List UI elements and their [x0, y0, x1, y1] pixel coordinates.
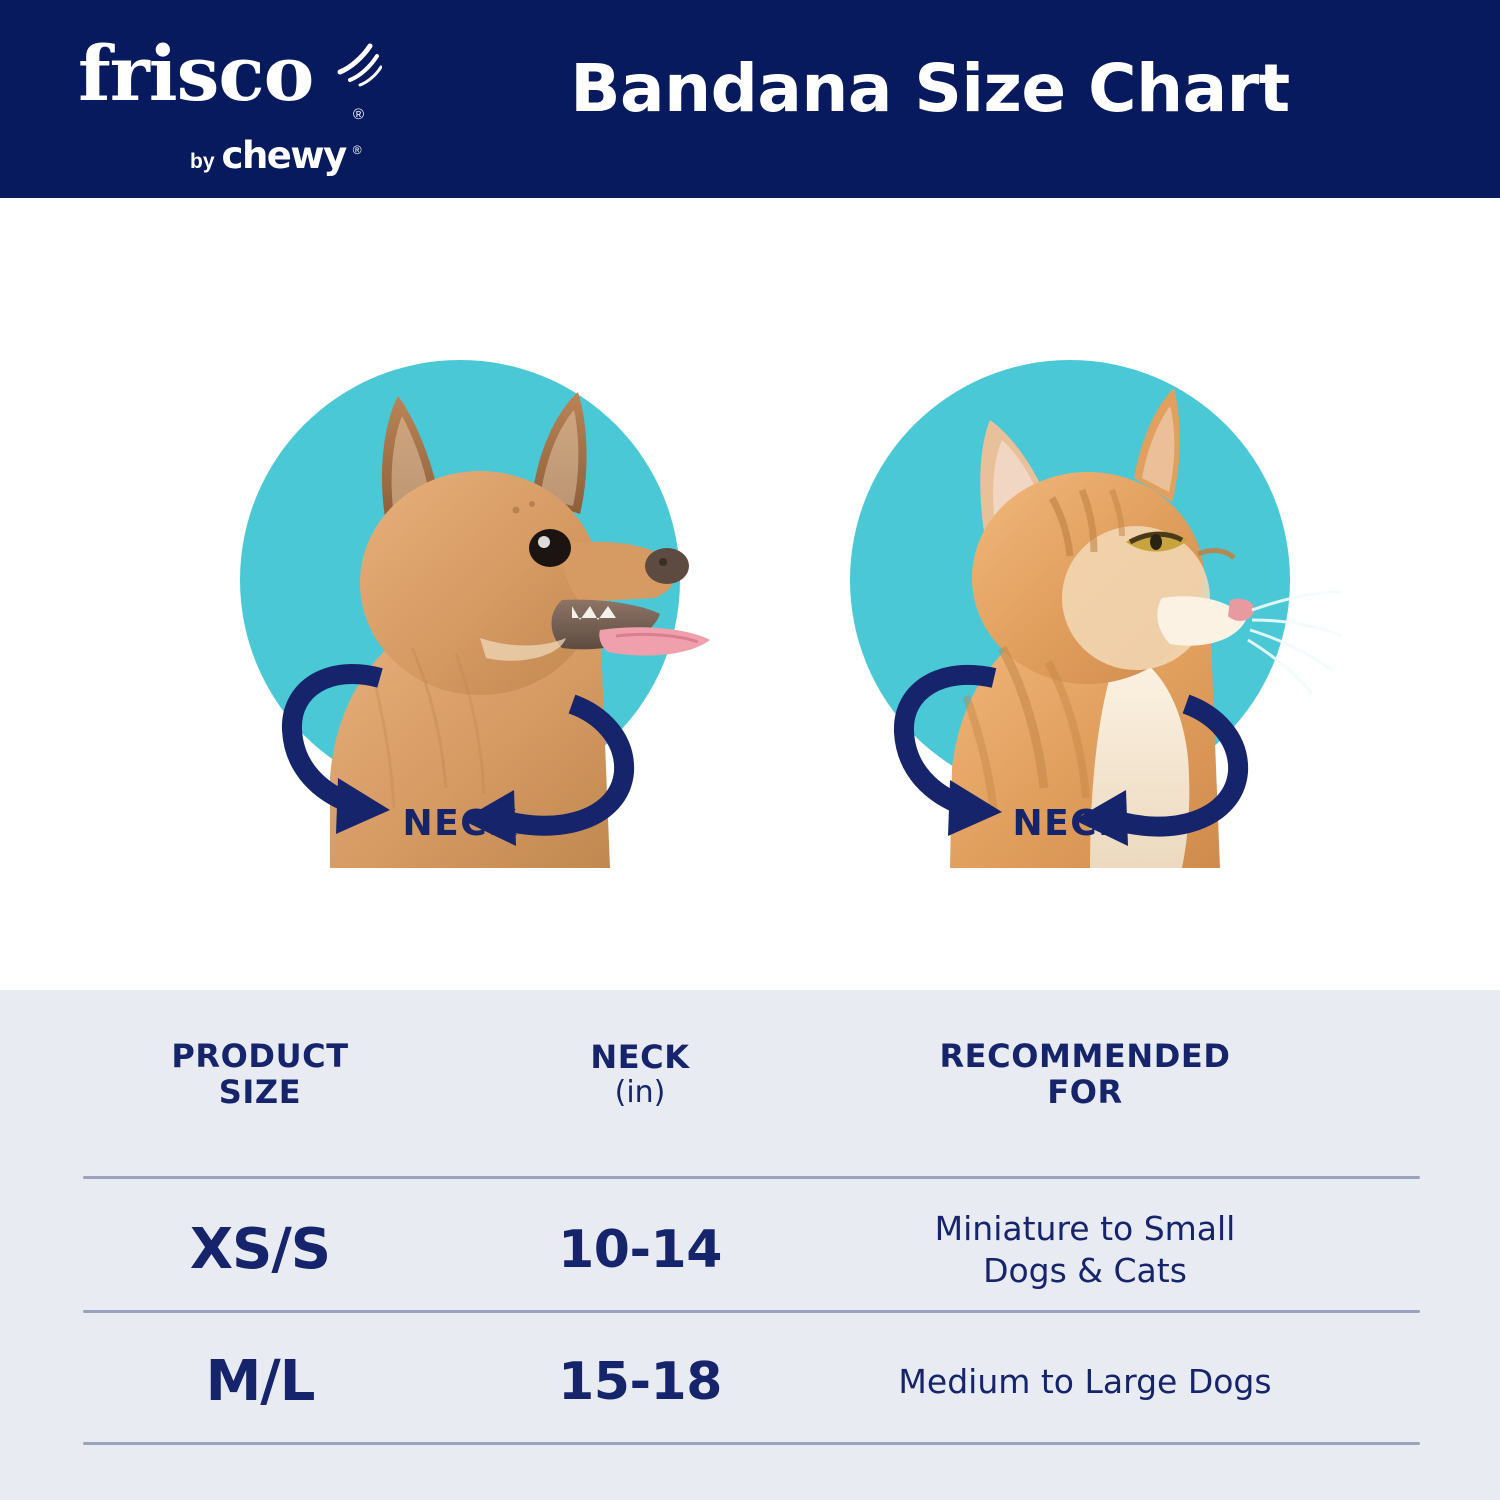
column-header-product-size: PRODUCT SIZE	[45, 1039, 475, 1111]
table-row: XS/S 10-14 Miniature to Small Dogs & Cat…	[0, 1190, 1500, 1310]
cell-recommended-for: Medium to Large Dogs	[805, 1361, 1365, 1403]
cat-photo-shape	[950, 388, 1342, 868]
cat-neck-label: NECK	[790, 803, 1350, 844]
header-band: frisco ® by chewy ® Bandana Size Chart	[0, 0, 1500, 198]
product-size-line2: SIZE	[219, 1075, 301, 1111]
cat-graphic	[790, 348, 1350, 868]
cat-measurement-illustration: NECK	[790, 348, 1350, 908]
dog-graphic	[180, 348, 740, 868]
table-divider-bottom	[83, 1442, 1420, 1445]
chewy-wordmark: chewy	[222, 134, 346, 177]
dog-neck-label: NECK	[180, 803, 740, 844]
frisco-registered-mark: ®	[353, 106, 364, 123]
row2-size: M/L	[206, 1354, 315, 1410]
neck-line1: NECK	[590, 1040, 689, 1076]
cell-product-size: XS/S	[45, 1222, 475, 1278]
recommended-line2: FOR	[1047, 1075, 1123, 1111]
table-divider-middle	[83, 1310, 1420, 1313]
by-label: by	[190, 150, 215, 174]
size-chart-page: frisco ® by chewy ® Bandana Size Chart	[0, 0, 1500, 1500]
illustration-area: NECK	[0, 198, 1500, 990]
table-row: M/L 15-18 Medium to Large Dogs	[0, 1322, 1500, 1442]
cell-neck: 15-18	[475, 1356, 805, 1408]
column-header-neck: NECK (in)	[475, 1040, 805, 1109]
row2-neck: 15-18	[558, 1356, 722, 1408]
neck-unit: (in)	[615, 1076, 666, 1110]
table-header-row: PRODUCT SIZE NECK (in) RECOMMENDED FOR	[0, 1020, 1500, 1130]
dog-measurement-illustration: NECK	[180, 348, 740, 908]
row1-neck: 10-14	[558, 1224, 722, 1276]
frisco-by-chewy-logo: frisco ® by chewy ®	[78, 36, 378, 166]
row1-size: XS/S	[190, 1222, 330, 1278]
size-table: PRODUCT SIZE NECK (in) RECOMMENDED FOR X…	[0, 990, 1500, 1500]
row2-rec-line1: Medium to Large Dogs	[898, 1361, 1271, 1403]
chewy-registered-mark: ®	[353, 143, 362, 157]
cell-recommended-for: Miniature to Small Dogs & Cats	[805, 1208, 1365, 1292]
page-title: Bandana Size Chart	[430, 56, 1430, 122]
cell-product-size: M/L	[45, 1354, 475, 1410]
frisco-swoosh-icon	[336, 42, 382, 88]
product-size-line1: PRODUCT	[171, 1039, 348, 1075]
recommended-line1: RECOMMENDED	[939, 1039, 1230, 1075]
dog-photo-shape	[330, 392, 710, 868]
cell-neck: 10-14	[475, 1224, 805, 1276]
by-chewy-lockup: by chewy ®	[190, 134, 362, 177]
column-header-recommended-for: RECOMMENDED FOR	[805, 1039, 1365, 1111]
frisco-wordmark: frisco	[78, 36, 313, 112]
row1-rec-line1: Miniature to Small	[935, 1208, 1236, 1250]
table-divider-top	[83, 1176, 1420, 1179]
row1-rec-line2: Dogs & Cats	[983, 1250, 1187, 1292]
